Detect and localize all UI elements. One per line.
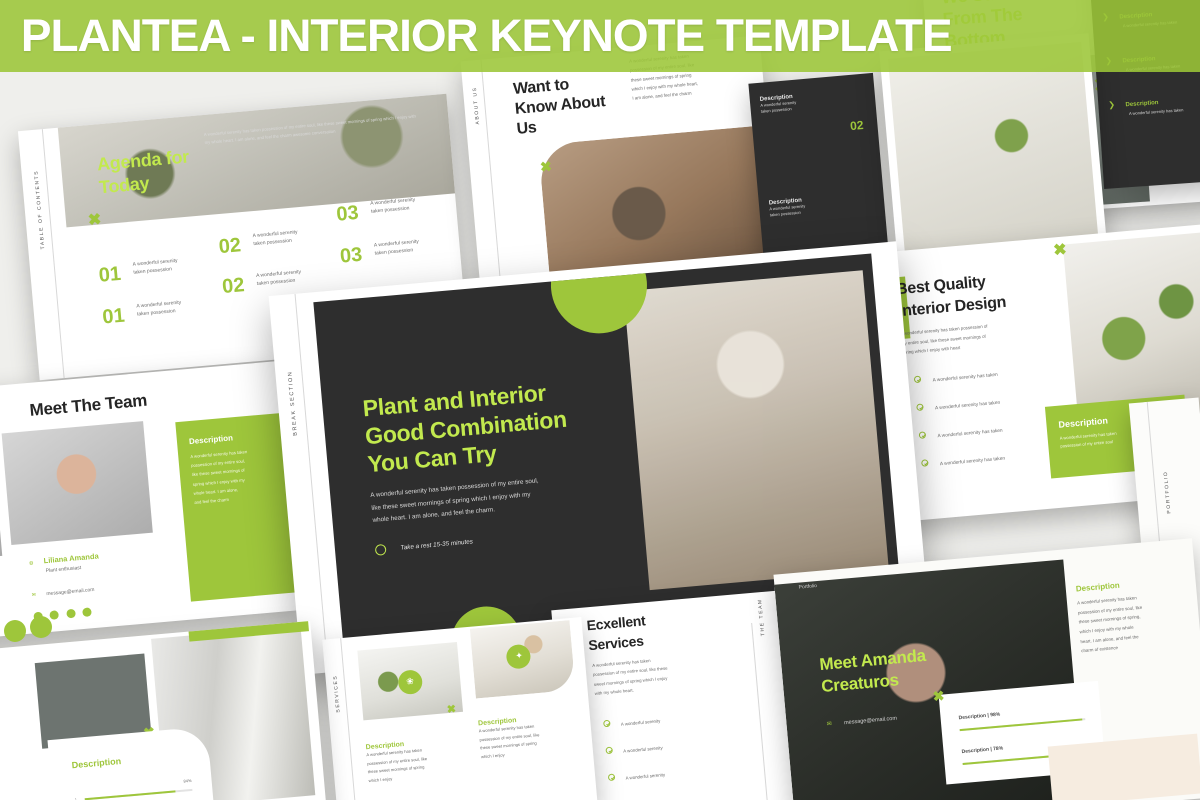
project-card-title: Description bbox=[71, 748, 209, 770]
checklist-label: A wonderful serenity has taken bbox=[937, 429, 1003, 440]
checklist-item[interactable]: A wonderful serenity has taken bbox=[916, 391, 1001, 416]
slide-side-label: ABOUT US bbox=[472, 86, 481, 125]
slide-divider bbox=[751, 623, 768, 800]
x-decoration-icon: ✖ bbox=[932, 688, 945, 703]
slide-divider bbox=[480, 60, 501, 289]
slide-paragraph: A wonderful serenity has taken possessio… bbox=[900, 317, 1042, 358]
green-circle-decoration bbox=[4, 620, 26, 642]
checklist-label: A wonderful serenity bbox=[625, 772, 665, 780]
slide-side-label: PORTFOLIO bbox=[1163, 470, 1173, 514]
step-badge-number: 02 bbox=[849, 118, 864, 133]
social-links[interactable] bbox=[33, 597, 160, 626]
slide-side-label: TABLE OF CONTENTS bbox=[33, 169, 46, 249]
x-decoration-icon: ✖ bbox=[1053, 242, 1068, 259]
green-circle-decoration bbox=[30, 616, 52, 638]
agenda-item-number: 01 bbox=[98, 263, 122, 287]
progress-fill bbox=[85, 790, 176, 800]
x-decoration-icon: ✖ bbox=[87, 212, 102, 229]
checklist-label: A wonderful serenity has taken bbox=[940, 457, 1006, 468]
slide-side-label: SERVICES bbox=[332, 674, 341, 712]
list-item[interactable]: Description A wonderful serenity taken p… bbox=[760, 94, 797, 115]
checklist-item[interactable]: A wonderful serenity has taken bbox=[913, 363, 998, 388]
stat-row: 1 84% bbox=[74, 778, 193, 800]
checklist: A wonderful serenity has taken A wonderf… bbox=[913, 363, 1005, 472]
avatar bbox=[0, 448, 2, 566]
check-icon bbox=[603, 720, 611, 728]
social-links[interactable] bbox=[0, 598, 8, 625]
x-decoration-icon: ✖ bbox=[539, 159, 552, 174]
service-card[interactable]: ✦ Description A wonderful serenity has t… bbox=[470, 620, 581, 762]
presentation-preview-stage: We Start From The Bottom ✖ Wanna see pos… bbox=[0, 0, 1200, 800]
team-member-card[interactable]: ◍ Liliana Amanda Plant enthusiast ✉ mess… bbox=[2, 421, 160, 627]
slide-email: message@email.com bbox=[844, 716, 897, 727]
hero-note-label: Take a rest 15-35 minutes bbox=[400, 539, 473, 552]
checklist-item[interactable]: A wonderful serenity bbox=[610, 790, 668, 800]
check-icon bbox=[919, 431, 927, 439]
hero-photo-macrame bbox=[624, 270, 889, 590]
x-decoration-icon: ✖ bbox=[446, 704, 456, 716]
team-member-email-row: ✉ message@email.com bbox=[31, 572, 158, 601]
check-icon bbox=[605, 747, 613, 755]
slide-side-label: THE TEAM bbox=[757, 598, 766, 636]
slide-steps-dark[interactable]: 02 Description A wonderful serenity take… bbox=[748, 73, 888, 263]
user-icon: ◍ bbox=[29, 560, 34, 566]
stat-row: Description | 98% bbox=[958, 704, 1084, 721]
agenda-item-number: 02 bbox=[221, 274, 245, 298]
leaf-icon: ❀ bbox=[406, 676, 414, 688]
avatar bbox=[2, 421, 153, 545]
team-member-email: message@email.com bbox=[46, 587, 94, 597]
slide-title: Meet The Team bbox=[29, 391, 148, 421]
checklist-item[interactable]: A wonderful serenity bbox=[605, 736, 663, 759]
twitter-icon[interactable] bbox=[50, 610, 60, 620]
clock-icon bbox=[375, 544, 387, 556]
promo-banner-title: PLANTEA - INTERIOR KEYNOTE TEMPLATE bbox=[21, 10, 952, 62]
x-decoration-icon: ✖ bbox=[624, 296, 641, 315]
slide-title-line2: Today bbox=[98, 173, 150, 198]
slide-title-line3: Us bbox=[516, 119, 537, 139]
slide-title-line1: Ecxellent bbox=[586, 612, 646, 633]
agenda-item[interactable]: 03 A wonderful serenity taken possession bbox=[339, 239, 420, 269]
slide-title-line1: Want to bbox=[512, 76, 569, 99]
agenda-item-number: 03 bbox=[335, 202, 359, 226]
checklist-item[interactable]: A wonderful serenity has taken bbox=[918, 419, 1003, 444]
slide-photo-shelf bbox=[888, 42, 1098, 252]
bulb-icon: ✦ bbox=[515, 650, 523, 662]
slide-title-line2: Services bbox=[588, 633, 644, 654]
checklist-label: A wonderful serenity has taken bbox=[935, 401, 1001, 412]
slide-meet-the-team[interactable]: Meet The Team Fernando Gustav Interior d… bbox=[0, 361, 300, 645]
list-item-text: A wonderful serenity has taken bbox=[1129, 107, 1184, 117]
promo-banner: PLANTEA - INTERIOR KEYNOTE TEMPLATE bbox=[0, 0, 1200, 72]
checklist: A wonderful serenity A wonderful serenit… bbox=[603, 709, 668, 800]
list-item-title: Description bbox=[1125, 100, 1158, 108]
project-stats-card: Description 1 84% 2 75% bbox=[47, 726, 216, 800]
slide-about-us[interactable]: ABOUT US Want to Know About Us A wonderf… bbox=[461, 35, 780, 290]
check-icon bbox=[921, 459, 929, 467]
agenda-item[interactable]: 02 A wonderful serenity taken possession bbox=[218, 229, 299, 259]
hero-copy: Plant and Interior Good Combination You … bbox=[362, 373, 626, 560]
list-item[interactable]: ❯ Description A wonderful serenity has t… bbox=[1108, 89, 1184, 118]
mail-icon: ✉ bbox=[32, 592, 37, 598]
slide-paragraph: A wonderful serenity has taken possessio… bbox=[592, 651, 705, 698]
linkedin-icon[interactable] bbox=[82, 607, 92, 617]
chevron-right-icon: ❯ bbox=[1108, 100, 1115, 109]
checklist-item[interactable]: A wonderful serenity has taken bbox=[921, 447, 1006, 472]
check-icon bbox=[914, 376, 922, 384]
checklist-label: A wonderful serenity bbox=[621, 718, 661, 726]
slide-divider bbox=[340, 638, 358, 800]
slide-title-line2: Interior Design bbox=[897, 294, 1007, 321]
check-icon bbox=[608, 774, 616, 782]
service-card[interactable]: ❀ ✖ Description A wonderful serenity has… bbox=[357, 642, 468, 786]
slide-project-portfolio[interactable]: Project Portfolio Design Top Pro June 20… bbox=[0, 621, 328, 800]
project-badge-label: Top Pro June 2020 bbox=[187, 621, 308, 629]
checklist-label: A wonderful serenity bbox=[623, 745, 663, 753]
agenda-item[interactable]: 01 A wonderful serenity taken possession bbox=[102, 300, 183, 330]
agenda-item[interactable]: 01 A wonderful serenity taken possession bbox=[98, 258, 179, 288]
slide-title-line1: Best Quality bbox=[895, 274, 986, 300]
stat-value: 84% bbox=[183, 778, 191, 784]
progress-fill bbox=[960, 718, 1083, 731]
checklist-item[interactable]: A wonderful serenity bbox=[603, 709, 661, 732]
progress-fill bbox=[963, 754, 1061, 765]
checklist-item[interactable]: A wonderful serenity bbox=[607, 763, 665, 786]
agenda-item-number: 01 bbox=[102, 305, 126, 329]
description-block: Description A wonderful serenity has tak… bbox=[1075, 575, 1191, 656]
check-icon bbox=[916, 403, 924, 411]
slide-service-cards[interactable]: SERVICES ❀ ✖ Description A wonderful ser… bbox=[322, 617, 598, 800]
team-member-name: Liliana Amanda bbox=[43, 551, 99, 565]
mail-icon: ✉ bbox=[826, 721, 832, 727]
agenda-item-number: 03 bbox=[339, 244, 363, 268]
stat-label: Description | 98% bbox=[958, 704, 1084, 721]
list-item[interactable]: Description A wonderful serenity taken p… bbox=[769, 197, 806, 218]
agenda-item-number: 02 bbox=[218, 234, 242, 258]
instagram-icon[interactable] bbox=[66, 608, 76, 618]
checklist-label: A wonderful serenity has taken bbox=[932, 373, 998, 384]
slide-side-label: BREAK SECTION bbox=[287, 370, 299, 436]
